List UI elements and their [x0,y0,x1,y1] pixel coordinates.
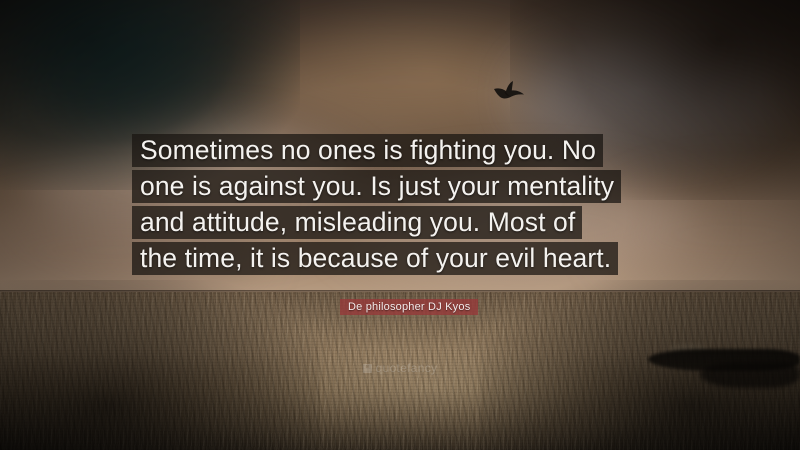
quote-wallpaper: Sometimes no ones is fighting you. No on… [0,0,800,450]
flying-bird-icon [492,80,526,104]
quote-text-block: Sometimes no ones is fighting you. No on… [132,134,680,275]
quote-line: the time, it is because of your evil hea… [132,242,618,275]
quote-line: one is against you. Is just your mentali… [132,170,621,203]
quote-line: and attitude, misleading you. Most of [132,206,582,239]
quote-mark-icon: “ [363,364,372,373]
watermark-label: quotefancy [376,361,438,375]
author-attribution: De philosopher DJ Kyos [340,299,478,315]
quote-line: Sometimes no ones is fighting you. No [132,134,603,167]
watermark: “ quotefancy [0,361,800,375]
